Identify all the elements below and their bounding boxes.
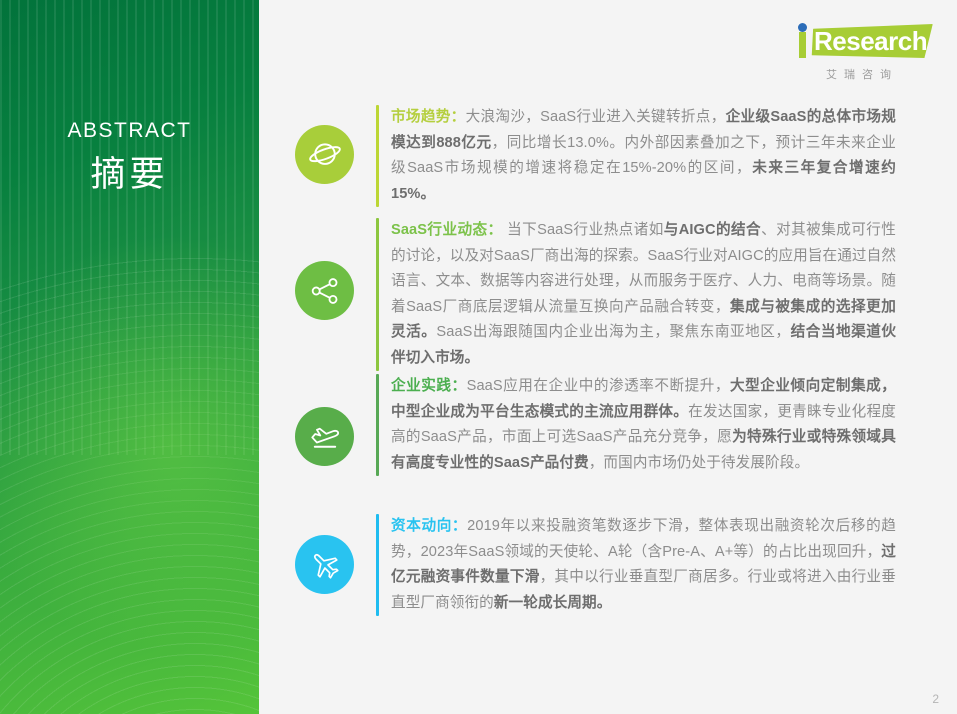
block-icon-circle-2 — [295, 407, 354, 466]
sidebar-title-cn: 摘要 — [0, 153, 259, 197]
airplane-icon — [308, 548, 342, 582]
slide: ABSTRACT 摘要 Research 艾瑞咨询 市场 — [0, 0, 957, 714]
abstract-block-capital-trends: 资本动向：2019年以来投融资笔数逐步下滑，整体表现出融资轮次后移的趋势，202… — [295, 514, 943, 616]
block-body-3: 资本动向：2019年以来投融资笔数逐步下滑，整体表现出融资轮次后移的趋势，202… — [376, 514, 896, 616]
abstract-block-market-trend: 市场趋势：大浪淘沙，SaaS行业进入关键转折点，企业级SaaS的总体市场规模达到… — [295, 105, 943, 207]
block-accent-bar-0 — [376, 105, 379, 207]
block-body-1: SaaS行业动态： 当下SaaS行业热点诸如与AIGC的结合、对其被集成可行性的… — [376, 218, 896, 371]
block-body-0: 市场趋势：大浪淘沙，SaaS行业进入关键转折点，企业级SaaS的总体市场规模达到… — [376, 105, 896, 207]
page-number: 2 — [932, 692, 939, 706]
abstract-block-enterprise-practice: 企业实践：SaaS应用在企业中的渗透率不断提升，大型企业倾向定制集成，中型企业成… — [295, 374, 943, 476]
block-accent-bar-1 — [376, 218, 379, 371]
sidebar-title-group: ABSTRACT 摘要 — [0, 118, 259, 197]
block-icon-circle-0 — [295, 125, 354, 184]
block-body-2: 企业实践：SaaS应用在企业中的渗透率不断提升，大型企业倾向定制集成，中型企业成… — [376, 374, 896, 476]
sidebar-stripe-texture — [0, 0, 259, 455]
abstract-block-industry-dynamics: SaaS行业动态： 当下SaaS行业热点诸如与AIGC的结合、对其被集成可行性的… — [295, 218, 943, 371]
block-text-3: 资本动向：2019年以来投融资笔数逐步下滑，整体表现出融资轮次后移的趋势，202… — [391, 514, 896, 616]
planet-icon — [308, 138, 342, 172]
share-nodes-icon — [309, 275, 341, 307]
abstract-content: 市场趋势：大浪淘沙，SaaS行业进入关键转折点，企业级SaaS的总体市场规模达到… — [259, 0, 957, 714]
block-heading-2: 企业实践： — [391, 378, 467, 394]
block-text-0: 市场趋势：大浪淘沙，SaaS行业进入关键转折点，企业级SaaS的总体市场规模达到… — [391, 105, 896, 207]
block-heading-0: 市场趋势： — [391, 109, 466, 125]
block-text-1: SaaS行业动态： 当下SaaS行业热点诸如与AIGC的结合、对其被集成可行性的… — [391, 218, 896, 371]
plane-departure-icon — [308, 420, 342, 454]
block-icon-circle-3 — [295, 535, 354, 594]
sidebar-title-en: ABSTRACT — [0, 118, 259, 143]
sidebar: ABSTRACT 摘要 — [0, 0, 259, 714]
block-runs-2: SaaS应用在企业中的渗透率不断提升，大型企业倾向定制集成，中型企业成为平台生态… — [391, 378, 896, 471]
block-accent-bar-2 — [376, 374, 379, 476]
block-text-2: 企业实践：SaaS应用在企业中的渗透率不断提升，大型企业倾向定制集成，中型企业成… — [391, 374, 896, 476]
block-heading-1: SaaS行业动态： — [391, 222, 503, 238]
block-heading-3: 资本动向： — [391, 518, 467, 534]
block-icon-circle-1 — [295, 261, 354, 320]
block-runs-0: 大浪淘沙，SaaS行业进入关键转折点，企业级SaaS的总体市场规模达到888亿元… — [391, 109, 896, 202]
block-runs-3: 2019年以来投融资笔数逐步下滑，整体表现出融资轮次后移的趋势，2023年Saa… — [391, 518, 896, 611]
block-accent-bar-3 — [376, 514, 379, 616]
block-runs-1: 当下SaaS行业热点诸如与AIGC的结合、对其被集成可行性的讨论，以及对SaaS… — [391, 222, 896, 366]
